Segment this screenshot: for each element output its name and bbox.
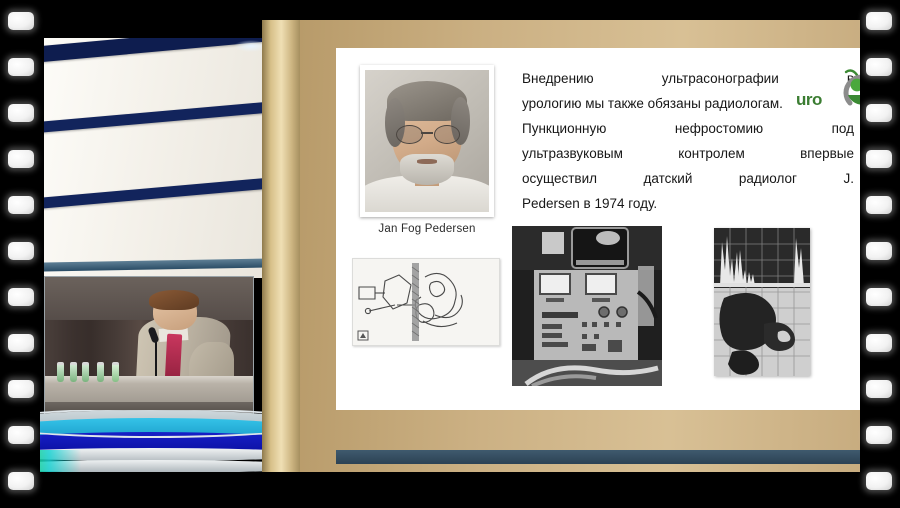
water-bottle — [97, 362, 104, 382]
paragraph-line: осуществил датский радиолог J. — [522, 166, 854, 191]
word: Pedersen в 1974 году. — [522, 191, 657, 216]
film-perforation — [8, 380, 34, 398]
word: ультрасонографии — [662, 66, 779, 91]
speaker-tie — [164, 333, 181, 381]
slide-bottom-bar — [336, 450, 900, 464]
film-perforation — [866, 196, 892, 214]
film-perforation — [8, 334, 34, 352]
logo-text-uro: uro — [796, 90, 822, 110]
word: контролем — [678, 141, 745, 166]
portrait-photo — [365, 70, 489, 212]
water-bottle — [57, 362, 64, 382]
word: под — [832, 116, 854, 141]
film-perforation — [866, 58, 892, 76]
ultrasound-machine-photo — [512, 226, 662, 386]
word: радиолог — [739, 166, 797, 191]
film-perforation — [866, 426, 892, 444]
desk-rim-highlight — [36, 410, 274, 438]
film-perforation — [8, 12, 34, 30]
film-perforation — [866, 12, 892, 30]
film-perforation — [8, 104, 34, 122]
portrait-mouth — [417, 159, 437, 163]
word: нефростомию — [675, 116, 763, 141]
portrait-beard — [400, 154, 455, 185]
desk-green-glow — [36, 450, 84, 472]
film-perforation — [866, 472, 892, 490]
word: впервые — [800, 141, 854, 166]
studio-backdrop — [44, 38, 274, 278]
film-perforation — [8, 150, 34, 168]
word: ультразвуковым — [522, 141, 623, 166]
word: Пункционную — [522, 116, 606, 141]
speaker-hair — [149, 290, 199, 310]
paragraph-line: ультразвуковым контролем впервые — [522, 141, 854, 166]
word: J. — [843, 166, 854, 191]
paragraph-line: Pedersen в 1974 году. — [522, 191, 854, 216]
video-frame-stage: Jan Fog Pedersen Внедрению ультрасоногра… — [0, 0, 900, 508]
studio-left-panel — [36, 20, 274, 472]
word: Внедрению — [522, 66, 594, 91]
backdrop-shelf-edge — [44, 257, 274, 271]
water-bottle — [82, 362, 89, 382]
word: осуществил — [522, 166, 597, 191]
film-perforation — [8, 242, 34, 260]
water-bottle — [112, 362, 119, 382]
film-perforation — [8, 196, 34, 214]
film-perforation — [866, 380, 892, 398]
portrait-frame — [360, 65, 494, 217]
nephrostomy-diagram — [352, 258, 500, 346]
water-bottle — [70, 362, 77, 382]
studio-desk — [36, 410, 274, 472]
filmstrip-right — [860, 0, 900, 508]
film-perforation — [8, 426, 34, 444]
gold-divider-column — [262, 20, 302, 472]
ultrasound-scan-image — [714, 228, 810, 376]
speaker-video-inset[interactable] — [44, 276, 254, 420]
slide-panel: Jan Fog Pedersen Внедрению ультрасоногра… — [300, 20, 900, 472]
word: датский — [644, 166, 693, 191]
eyeglasses-bridge — [421, 132, 433, 134]
film-perforation — [866, 150, 892, 168]
film-perforation — [866, 242, 892, 260]
portrait-caption: Jan Fog Pedersen — [346, 223, 508, 235]
presentation-slide: Jan Fog Pedersen Внедрению ультрасоногра… — [336, 48, 892, 410]
paragraph-line: Пункционную нефростомию под — [522, 116, 854, 141]
backdrop-stripe-3 — [44, 172, 274, 211]
film-perforation — [8, 472, 34, 490]
film-perforation — [8, 58, 34, 76]
backdrop-stripe-2 — [44, 96, 274, 135]
film-perforation — [8, 288, 34, 306]
word: урологию мы также обязаны радиологам. — [522, 91, 783, 116]
film-perforation — [866, 334, 892, 352]
video-content-area: Jan Fog Pedersen Внедрению ультрасоногра… — [36, 10, 866, 472]
film-perforation — [866, 288, 892, 306]
filmstrip-left — [0, 0, 40, 508]
film-perforation — [866, 104, 892, 122]
